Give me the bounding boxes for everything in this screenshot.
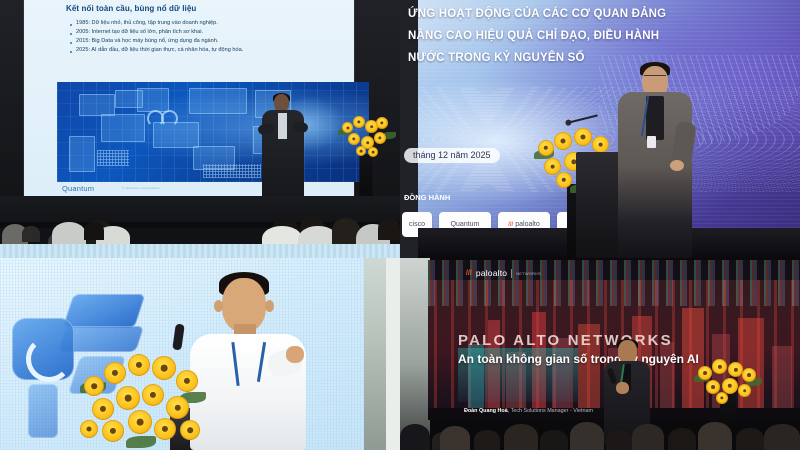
audience-rows xyxy=(0,214,400,258)
world-map-dots xyxy=(203,164,261,178)
flower-arrangement xyxy=(76,352,208,450)
flower xyxy=(738,384,751,397)
paloalto-logo: /// paloalto NETWORKS xyxy=(466,268,541,278)
list-item: 1985: Dữ liệu nhỏ, thủ công, tập trung v… xyxy=(70,21,350,27)
flower-bunch xyxy=(76,352,208,450)
flower xyxy=(92,398,114,420)
backdrop-headline-line-2: NÂNG CAO HIỆU QUẢ CHỈ ĐẠO, ĐIỀU HÀNH xyxy=(408,30,659,42)
flower xyxy=(376,117,388,129)
slide-subtitle: An toàn không gian số trong kỷ nguyên AI xyxy=(458,352,699,366)
paloalto-logo-text: paloalto xyxy=(476,268,507,278)
speaker-ear xyxy=(265,300,274,312)
data-card xyxy=(69,136,95,172)
flower xyxy=(554,132,572,150)
audience-head xyxy=(698,422,732,450)
flower xyxy=(353,116,365,128)
panel-top-left: Kết nối toàn cầu, bùng nổ dữ liệu 1985: … xyxy=(0,0,400,258)
data-card xyxy=(79,94,115,116)
speaker-hand xyxy=(616,382,629,394)
list-item: 2025: AI dẫn đầu, dữ liệu thời gian thực… xyxy=(70,48,350,54)
audience-head xyxy=(440,426,470,450)
flower xyxy=(356,146,366,156)
speaker-badge xyxy=(647,136,656,148)
flower xyxy=(728,362,743,377)
audience-head xyxy=(540,430,568,450)
speaker-shirt xyxy=(646,96,664,140)
flower xyxy=(116,386,140,410)
flower xyxy=(80,420,98,438)
audience-rows xyxy=(400,416,800,450)
logo-block xyxy=(62,294,145,328)
presenter-role: , Tech Solutions Manager - Vietnam xyxy=(508,408,593,414)
audience-head xyxy=(400,424,430,450)
panel-bottom-left xyxy=(0,258,400,450)
flower xyxy=(374,132,386,144)
list-item: 2015: Big Data và học máy bùng nổ, ứng d… xyxy=(70,39,350,45)
slide-bullet-list: 1985: Dữ liệu nhỏ, thủ công, tập trung v… xyxy=(70,21,350,57)
panel-top-right: ỨNG HOẠT ĐỘNG CỦA CÁC CƠ QUAN ĐẢNG NÂNG … xyxy=(400,0,800,258)
flower xyxy=(154,418,176,440)
bullet-dot-icon xyxy=(70,51,72,53)
slide-title: Kết nối toàn cầu, bùng nổ dữ liệu xyxy=(66,4,196,13)
speaker-hand-right xyxy=(286,346,304,363)
quantum-logo: Quantum xyxy=(62,184,94,193)
slide-bullet-text: 2005: Internet tạo dữ liệu số lớn, phân … xyxy=(76,30,203,36)
flower xyxy=(712,359,727,374)
audience-head xyxy=(504,424,538,450)
flower xyxy=(128,354,150,376)
bullet-dot-icon xyxy=(70,24,72,26)
donut-chart-icon xyxy=(161,110,178,127)
panel-bottom-right: /// paloalto NETWORKS PALO ALTO NETWORKS… xyxy=(400,258,800,450)
event-date: tháng 12 năm 2025 xyxy=(404,148,500,163)
logo-divider xyxy=(511,269,512,278)
audience-head xyxy=(570,422,604,450)
flower-bunch xyxy=(692,356,764,402)
flower xyxy=(716,392,728,404)
flower xyxy=(556,172,572,188)
projection-slide: Kết nối toàn cầu, bùng nổ dữ liệu 1985: … xyxy=(24,0,354,196)
flower xyxy=(166,396,189,419)
audience-head xyxy=(84,222,104,240)
logo-block xyxy=(28,384,58,438)
flower xyxy=(84,376,104,396)
paloalto-logo-sub: NETWORKS xyxy=(516,271,541,276)
bullet-dot-icon xyxy=(70,33,72,35)
logo-arc xyxy=(26,336,72,382)
building xyxy=(772,346,792,408)
audience-head xyxy=(668,428,696,450)
flower-arrangement xyxy=(336,112,396,208)
speaker-hand-right xyxy=(670,160,684,171)
backdrop-headline-line-3: NƯỚC TRONG KỶ NGUYÊN SỐ xyxy=(408,52,585,64)
audience-table xyxy=(0,244,400,258)
paloalto-mark-icon: /// xyxy=(466,270,472,277)
speaker-shirt xyxy=(278,113,287,139)
bullet-dot-icon xyxy=(70,42,72,44)
flower xyxy=(348,133,360,145)
list-item: 2005: Internet tạo dữ liệu số lớn, phân … xyxy=(70,30,350,36)
speaker-figure xyxy=(262,94,304,198)
speaker-head xyxy=(618,340,637,363)
glitch-stripes xyxy=(428,260,800,306)
flower xyxy=(176,370,198,392)
flower xyxy=(142,384,164,406)
paloalto-mark-icon: /// xyxy=(508,222,513,228)
flower xyxy=(698,366,712,380)
audience-head xyxy=(632,424,664,450)
data-card xyxy=(101,114,145,142)
flower xyxy=(128,410,152,434)
speaker-ear xyxy=(214,300,223,312)
presenter-credit: Đoàn Quang Hoà, Tech Solutions Manager -… xyxy=(464,408,593,414)
flower xyxy=(102,420,124,442)
quantum-copyright: © Quantum Corporation xyxy=(122,186,160,190)
presenter-name: Đoàn Quang Hoà xyxy=(464,408,508,414)
photo-collage: Kết nối toàn cầu, bùng nổ dữ liệu 1985: … xyxy=(0,0,800,450)
speaker-figure xyxy=(618,62,692,258)
flower xyxy=(368,147,378,157)
slide-bullet-text: 1985: Dữ liệu nhỏ, thủ công, tập trung v… xyxy=(76,21,218,27)
flower xyxy=(342,122,353,133)
flower-bunch xyxy=(336,112,396,158)
data-card xyxy=(189,88,247,114)
audience-head xyxy=(606,430,632,450)
audience-head xyxy=(764,424,800,450)
flower xyxy=(180,420,200,440)
room-pillar xyxy=(386,258,400,450)
audience-head xyxy=(378,218,400,240)
data-card xyxy=(137,88,169,112)
leaf xyxy=(126,436,156,448)
slide-data-visual xyxy=(57,82,369,182)
audience-head xyxy=(736,428,764,450)
podium xyxy=(576,152,622,258)
slide-bullet-text: 2025: AI dẫn đầu, dữ liệu thời gian thực… xyxy=(76,48,243,54)
partners-label: ĐỒNG HÀNH xyxy=(404,193,450,202)
data-card xyxy=(153,122,199,148)
world-map-dots xyxy=(97,150,129,166)
speaker-glasses-icon xyxy=(644,75,666,80)
audience-head xyxy=(22,226,40,242)
flower xyxy=(742,368,756,382)
flower xyxy=(104,362,126,384)
flower xyxy=(538,140,554,156)
slide-bullet-text: 2015: Big Data và học máy bùng nổ, ứng d… xyxy=(76,39,218,45)
flower xyxy=(574,128,592,146)
flower xyxy=(592,136,609,153)
audience-head xyxy=(474,430,500,450)
flower xyxy=(152,356,176,380)
backdrop-headline-line-1: ỨNG HOẠT ĐỘNG CỦA CÁC CƠ QUAN ĐẢNG xyxy=(408,8,666,20)
